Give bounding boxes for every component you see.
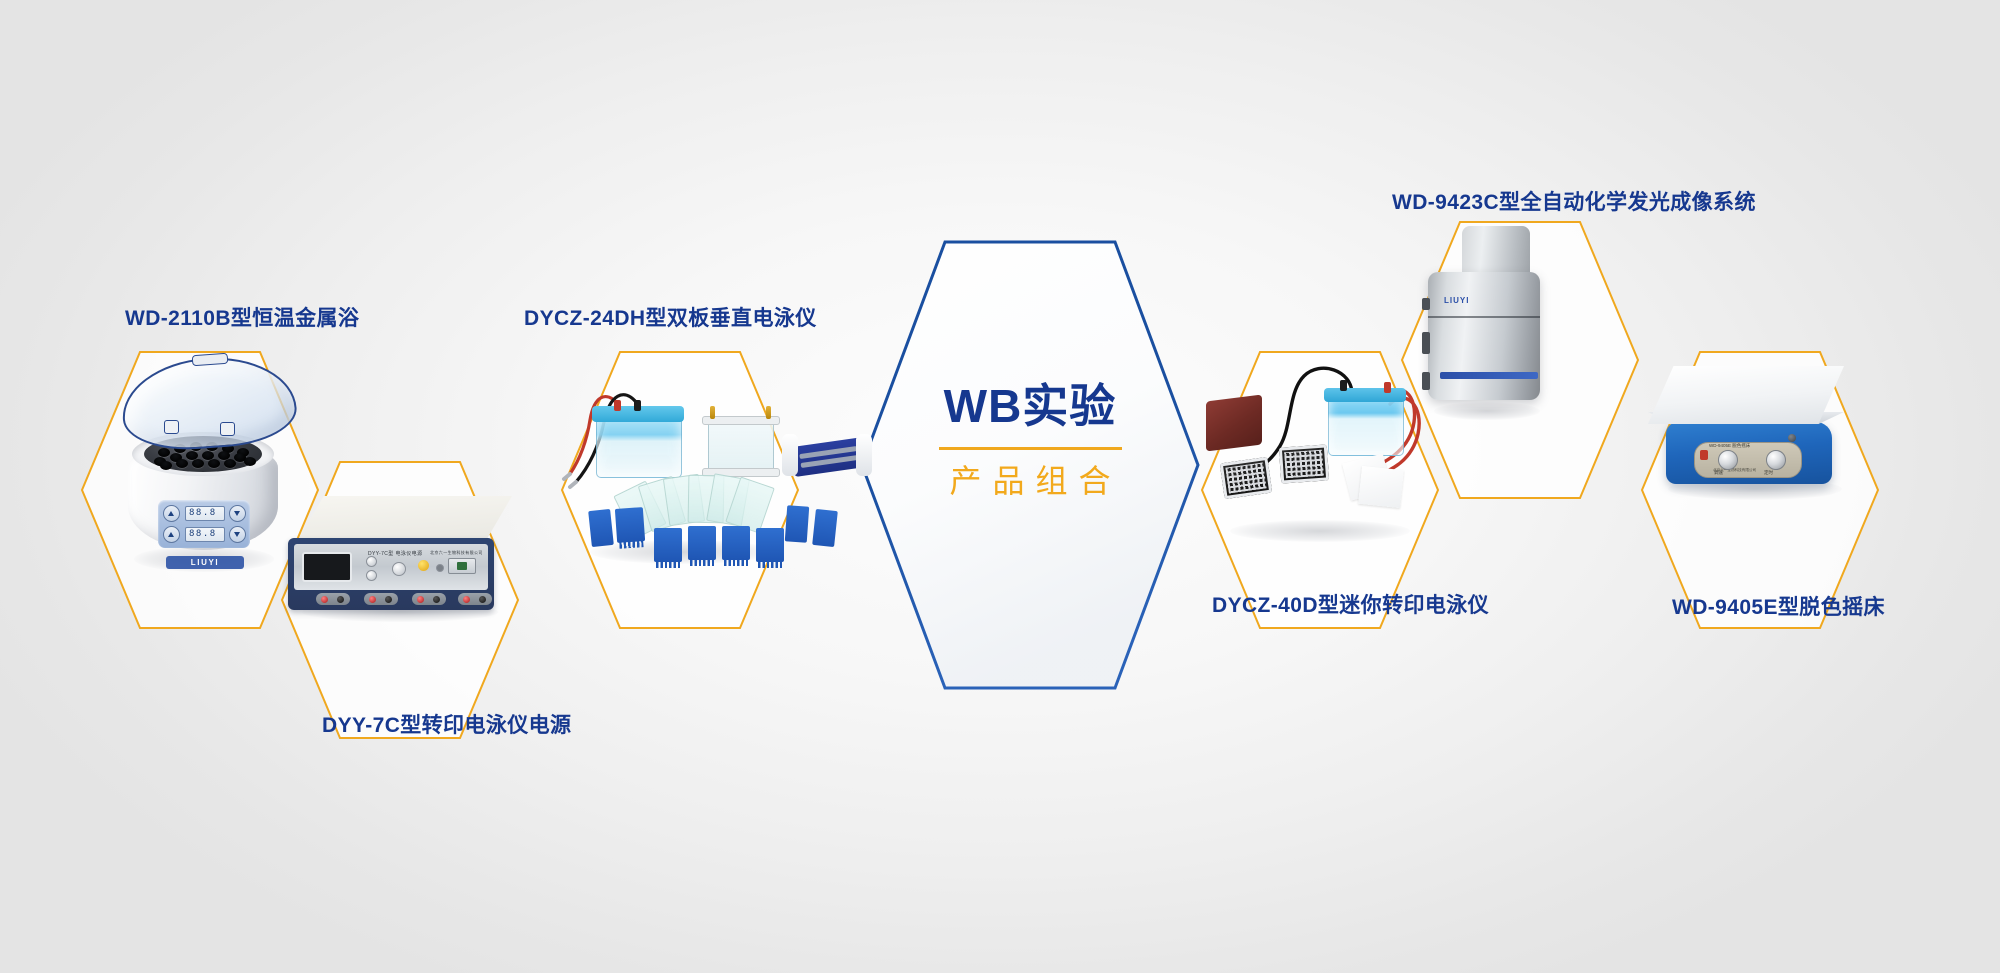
metal-bath-lid — [119, 352, 299, 454]
side-port — [1422, 298, 1430, 310]
gel-casting-frame — [708, 422, 774, 474]
infographic-canvas: WB实验 产品组合 WD-2110B型恒温金属浴 — [0, 0, 2000, 973]
electrode-post-black — [634, 400, 641, 411]
center-content: WB实验 产品组合 — [880, 382, 1180, 499]
brand-logo-liuyi: LIUYI — [166, 556, 244, 569]
power-supply-panel-subtext: 北京六一生物科技有限公司 — [430, 550, 483, 556]
gel-comb — [722, 526, 750, 560]
electrode-post-red — [1384, 382, 1391, 393]
caster-end-cap — [856, 434, 872, 476]
filter-paper — [1358, 466, 1404, 508]
display-value-temp: 88.8 — [189, 509, 217, 518]
selector-knob[interactable] — [392, 562, 406, 576]
power-led — [1788, 434, 1796, 442]
timer-knob-label: 定时 — [1764, 470, 1773, 476]
power-switch[interactable] — [448, 558, 476, 574]
center-subtitle: 产品组合 — [880, 464, 1180, 499]
output-jack-row[interactable] — [298, 593, 486, 606]
metal-bath-display-temp: 88.8 — [185, 506, 225, 521]
metal-bath-control-panel[interactable]: 88.8 88.8 — [158, 500, 250, 548]
side-port — [1422, 372, 1430, 390]
gel-comb — [654, 528, 682, 562]
accent-stripe — [1440, 372, 1538, 379]
gel-comb — [688, 526, 716, 560]
brand-text: LIUYI — [1444, 296, 1469, 305]
mini-tank-lid — [1324, 388, 1406, 402]
imaging-cabinet — [1428, 272, 1540, 400]
display-value-time: 88.8 — [189, 530, 217, 539]
gel-comb — [615, 507, 645, 543]
thumb-screw — [766, 406, 771, 419]
power-supply-panel-text: DYY-7C型 电泳仪电源 — [368, 550, 422, 557]
brand-logo-liuyi: LIUYI — [1444, 296, 1469, 305]
shaker-panel-text: WD-9405E 脱色摇床 — [1709, 443, 1750, 449]
metal-bath-display-time: 88.8 — [185, 527, 225, 542]
up-arrow-icon[interactable] — [163, 526, 180, 543]
speed-knob-label: 调速 — [1714, 470, 1723, 476]
power-supply-top — [298, 496, 512, 540]
electrode-post-black — [1340, 380, 1347, 391]
down-arrow-icon[interactable] — [229, 526, 246, 543]
up-arrow-icon[interactable] — [163, 505, 180, 522]
product-image-dyy-7c: DYY-7C型 电泳仪电源 北京六一生物科技有限公司 — [280, 460, 520, 740]
down-arrow-icon[interactable] — [229, 505, 246, 522]
knob-down-icon[interactable] — [366, 570, 377, 581]
shaker-tray — [1648, 366, 1844, 424]
label-dycz-24dh: DYCZ-24DH型双板垂直电泳仪 — [524, 308, 817, 329]
caster-end-cap — [782, 434, 798, 476]
product-image-wd-9405e: WD-9405E 脱色摇床 北京六一生物科技有限公司 调速 定时 — [1640, 350, 1880, 630]
knob-up-icon[interactable] — [366, 556, 377, 567]
center-divider — [939, 447, 1122, 450]
transfer-core-module — [1206, 395, 1262, 452]
timer-knob[interactable] — [1766, 450, 1786, 470]
indicator-lamp — [418, 560, 429, 571]
gel-spacer — [588, 509, 614, 547]
brand-text: LIUYI — [166, 556, 244, 569]
product-image-wd-9423c: LIUYI — [1400, 220, 1640, 500]
center-title: WB实验 — [880, 382, 1180, 430]
thumb-screw — [710, 406, 715, 419]
gel-spacer — [785, 505, 809, 542]
gel-comb — [756, 528, 784, 562]
side-port — [1422, 332, 1430, 354]
electrode-post-red — [614, 400, 621, 411]
transfer-cassette — [1279, 444, 1329, 483]
mini-buffer-tank — [1328, 394, 1404, 456]
speed-knob[interactable] — [1718, 450, 1738, 470]
gel-spacer — [812, 509, 838, 547]
cabinet-door-seam — [1428, 316, 1540, 318]
product-image-dycz-24dh — [560, 350, 800, 630]
small-indicator — [436, 564, 444, 572]
transfer-cassette — [1220, 457, 1273, 499]
label-wd-2110b: WD-2110B型恒温金属浴 — [125, 308, 359, 329]
power-supply-lcd — [302, 552, 352, 582]
label-wd-9423c: WD-9423C型全自动化学发光成像系统 — [1392, 192, 1756, 213]
brand-mark-red — [1700, 450, 1708, 460]
